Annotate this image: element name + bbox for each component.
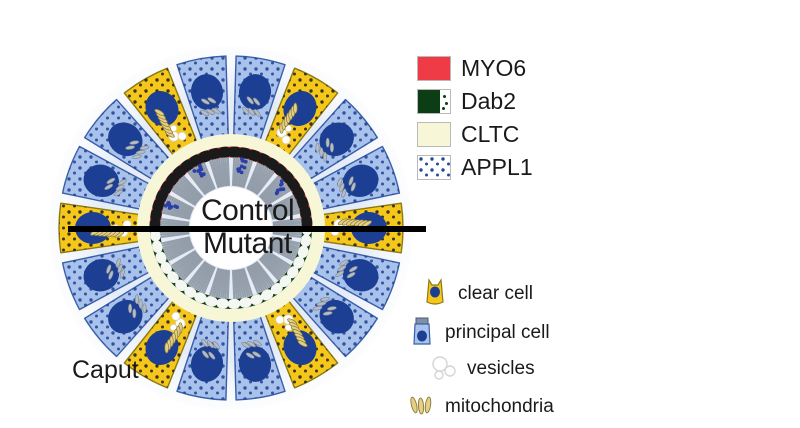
clear-cell-icon <box>418 276 452 310</box>
blue-dotted-swatch <box>417 155 451 180</box>
legend-item-cltc: CLTC <box>417 118 533 151</box>
figure-canvas: Control Mutant Caput MYO6 Dab2 CLTC <box>0 0 800 420</box>
vesicles-icon <box>427 351 461 385</box>
legend-label-appl1: APPL1 <box>461 156 533 179</box>
legend-label-vesicles: vesicles <box>467 359 535 378</box>
legend-item-mitochondria: mitochondria <box>405 389 645 423</box>
legend-item-myo6: MYO6 <box>417 52 533 85</box>
legend-label-cltc: CLTC <box>461 123 519 146</box>
legend-label-myo6: MYO6 <box>461 57 526 80</box>
label-control: Control <box>201 194 294 228</box>
structure-legend: clear cell principal cell vesicles <box>405 276 645 423</box>
legend-label-clear-cell: clear cell <box>458 284 533 303</box>
legend-item-principal-cell: principal cell <box>405 315 645 349</box>
legend-item-dab2: Dab2 <box>417 85 533 118</box>
legend-item-appl1: APPL1 <box>417 151 533 184</box>
marker-legend: MYO6 Dab2 CLTC APPL1 <box>417 52 533 184</box>
legend-label-mitochondria: mitochondria <box>445 397 554 416</box>
red-swatch <box>417 56 451 81</box>
legend-label-dab2: Dab2 <box>461 90 516 113</box>
legend-label-principal-cell: principal cell <box>445 323 550 342</box>
cream-swatch <box>417 122 451 147</box>
legend-item-vesicles: vesicles <box>427 351 645 385</box>
mitochondria-icon <box>405 389 439 423</box>
label-mutant: Mutant <box>203 227 292 261</box>
dark-green-swatch <box>417 89 451 114</box>
label-caput: Caput <box>72 356 139 385</box>
legend-item-clear-cell: clear cell <box>418 276 645 310</box>
principal-cell-icon <box>405 315 439 349</box>
